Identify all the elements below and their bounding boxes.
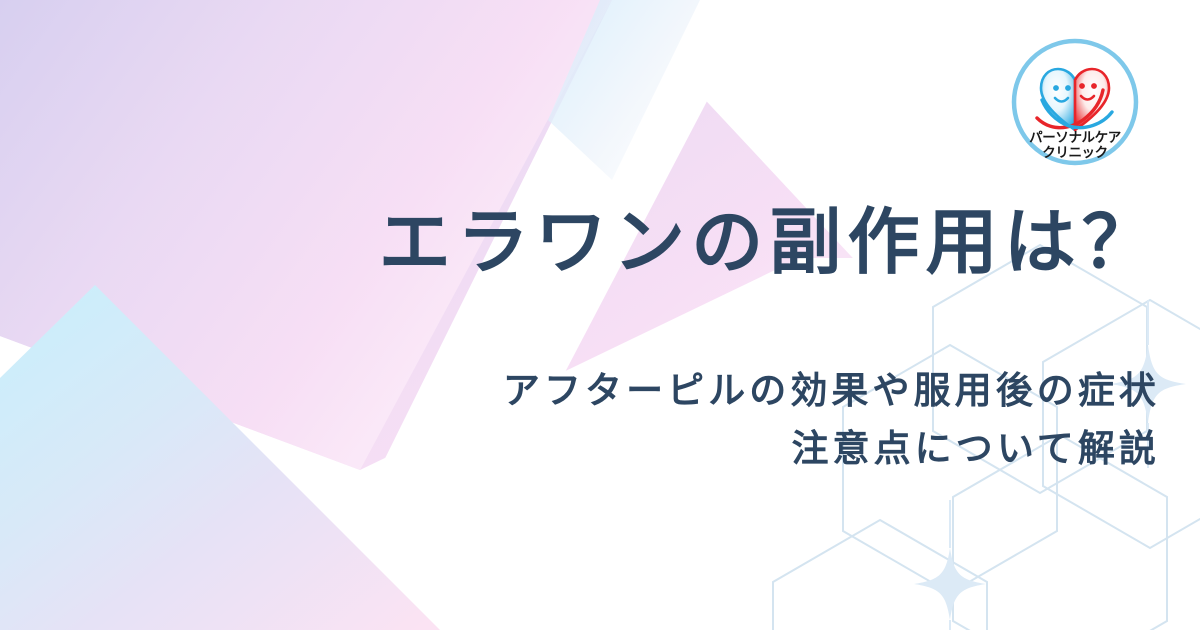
banner-canvas: パーソナルケア クリニック エラワンの副作用は？ アフターピルの効果や服用後の症… bbox=[0, 0, 1200, 630]
logo-text-line1: パーソナルケア bbox=[1029, 130, 1121, 145]
logo-text-line2: クリニック bbox=[1042, 145, 1108, 160]
clinic-logo[interactable]: パーソナルケア クリニック bbox=[1011, 38, 1139, 166]
